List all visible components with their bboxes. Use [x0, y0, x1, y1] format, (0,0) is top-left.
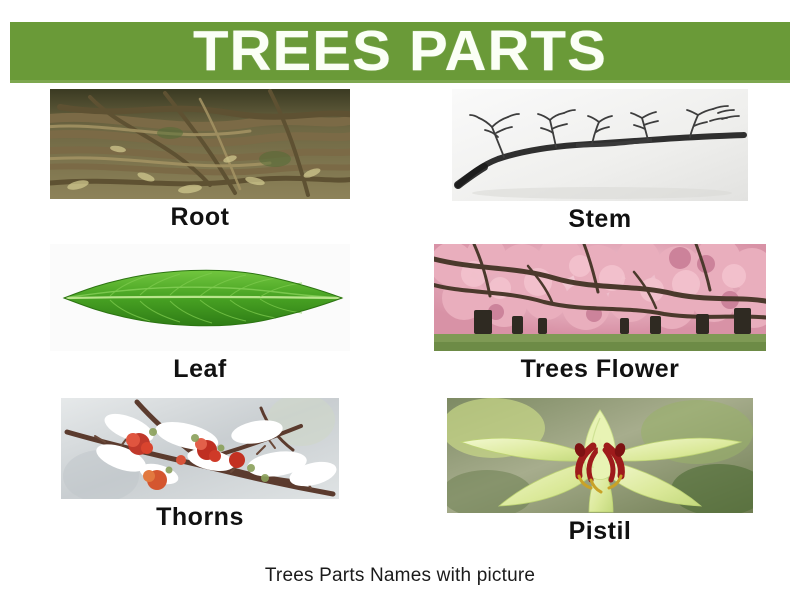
root-label: Root [171, 204, 230, 230]
leaf-label: Leaf [173, 356, 226, 382]
thorns-image [61, 398, 339, 499]
trees-flower-label: Trees Flower [521, 356, 680, 382]
roots-illustration [50, 89, 350, 199]
part-cell-thorns: Thorns [0, 398, 400, 544]
parts-grid: Root [0, 86, 800, 544]
thorns-illustration [61, 398, 339, 499]
page-title: TREES PARTS [193, 22, 607, 80]
grid-row: Thorns [0, 398, 800, 544]
part-cell-stem: Stem [400, 89, 800, 232]
leaf-illustration [50, 244, 350, 351]
pistil-image [447, 398, 753, 513]
pistil-label: Pistil [569, 518, 632, 544]
part-cell-trees-flower: Trees Flower [400, 244, 800, 382]
poster: TREES PARTS [0, 0, 800, 600]
footer-caption: Trees Parts Names with picture [0, 565, 800, 587]
grid-row: Leaf [0, 244, 800, 382]
grid-row: Root [0, 89, 800, 232]
leaf-image [50, 244, 350, 351]
root-image [50, 89, 350, 199]
header-banner: TREES PARTS [10, 22, 790, 80]
stem-label: Stem [568, 206, 631, 232]
part-cell-pistil: Pistil [400, 398, 800, 544]
trees-flower-image [434, 244, 766, 351]
blossom-illustration [434, 244, 766, 351]
part-cell-leaf: Leaf [0, 244, 400, 382]
banner-underline [10, 80, 790, 83]
part-cell-root: Root [0, 89, 400, 232]
thorns-label: Thorns [156, 504, 244, 530]
stem-image [452, 89, 748, 201]
branch-illustration [452, 89, 748, 201]
pistil-illustration [447, 398, 753, 513]
